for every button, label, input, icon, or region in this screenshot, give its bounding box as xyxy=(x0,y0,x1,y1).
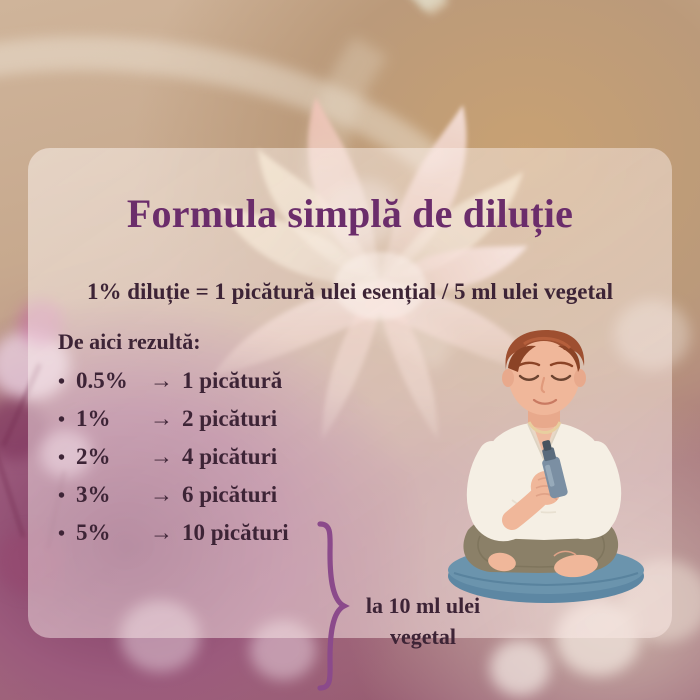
drop-count: 6 picături xyxy=(182,482,277,508)
arrow-icon: → xyxy=(150,368,182,394)
dilution-percent: 3% xyxy=(76,482,150,508)
arrow-icon: → xyxy=(150,482,182,508)
bullet-icon: • xyxy=(58,410,76,430)
meditating-man-illustration xyxy=(428,330,658,610)
list-item: • 1% → 2 picături xyxy=(58,406,338,444)
list-item: • 0.5% → 1 picătură xyxy=(58,368,338,406)
dilution-percent: 1% xyxy=(76,406,150,432)
page-title: Formula simplă de diluție xyxy=(28,190,672,237)
formula-subtitle: 1% diluție = 1 picătură ulei esențial / … xyxy=(28,279,672,305)
bullet-icon: • xyxy=(58,372,76,392)
drop-count: 2 picături xyxy=(182,406,277,432)
dilution-percent: 2% xyxy=(76,444,150,470)
bullet-icon: • xyxy=(58,448,76,468)
dilution-percent: 5% xyxy=(76,520,150,546)
list-item: • 5% → 10 picături xyxy=(58,520,338,558)
results-heading: De aici rezultă: xyxy=(58,329,201,355)
bullet-icon: • xyxy=(58,524,76,544)
list-item: • 2% → 4 picături xyxy=(58,444,338,482)
arrow-icon: → xyxy=(150,520,182,546)
bullet-icon: • xyxy=(58,486,76,506)
arrow-icon: → xyxy=(150,406,182,432)
dilution-list: • 0.5% → 1 picătură • 1% → 2 picături • … xyxy=(58,368,338,558)
drop-count: 1 picătură xyxy=(182,368,282,394)
list-item: • 3% → 6 picături xyxy=(58,482,338,520)
drop-count: 10 picături xyxy=(182,520,289,546)
dilution-percent: 0.5% xyxy=(76,368,150,394)
drop-count: 4 picături xyxy=(182,444,277,470)
arrow-icon: → xyxy=(150,444,182,470)
